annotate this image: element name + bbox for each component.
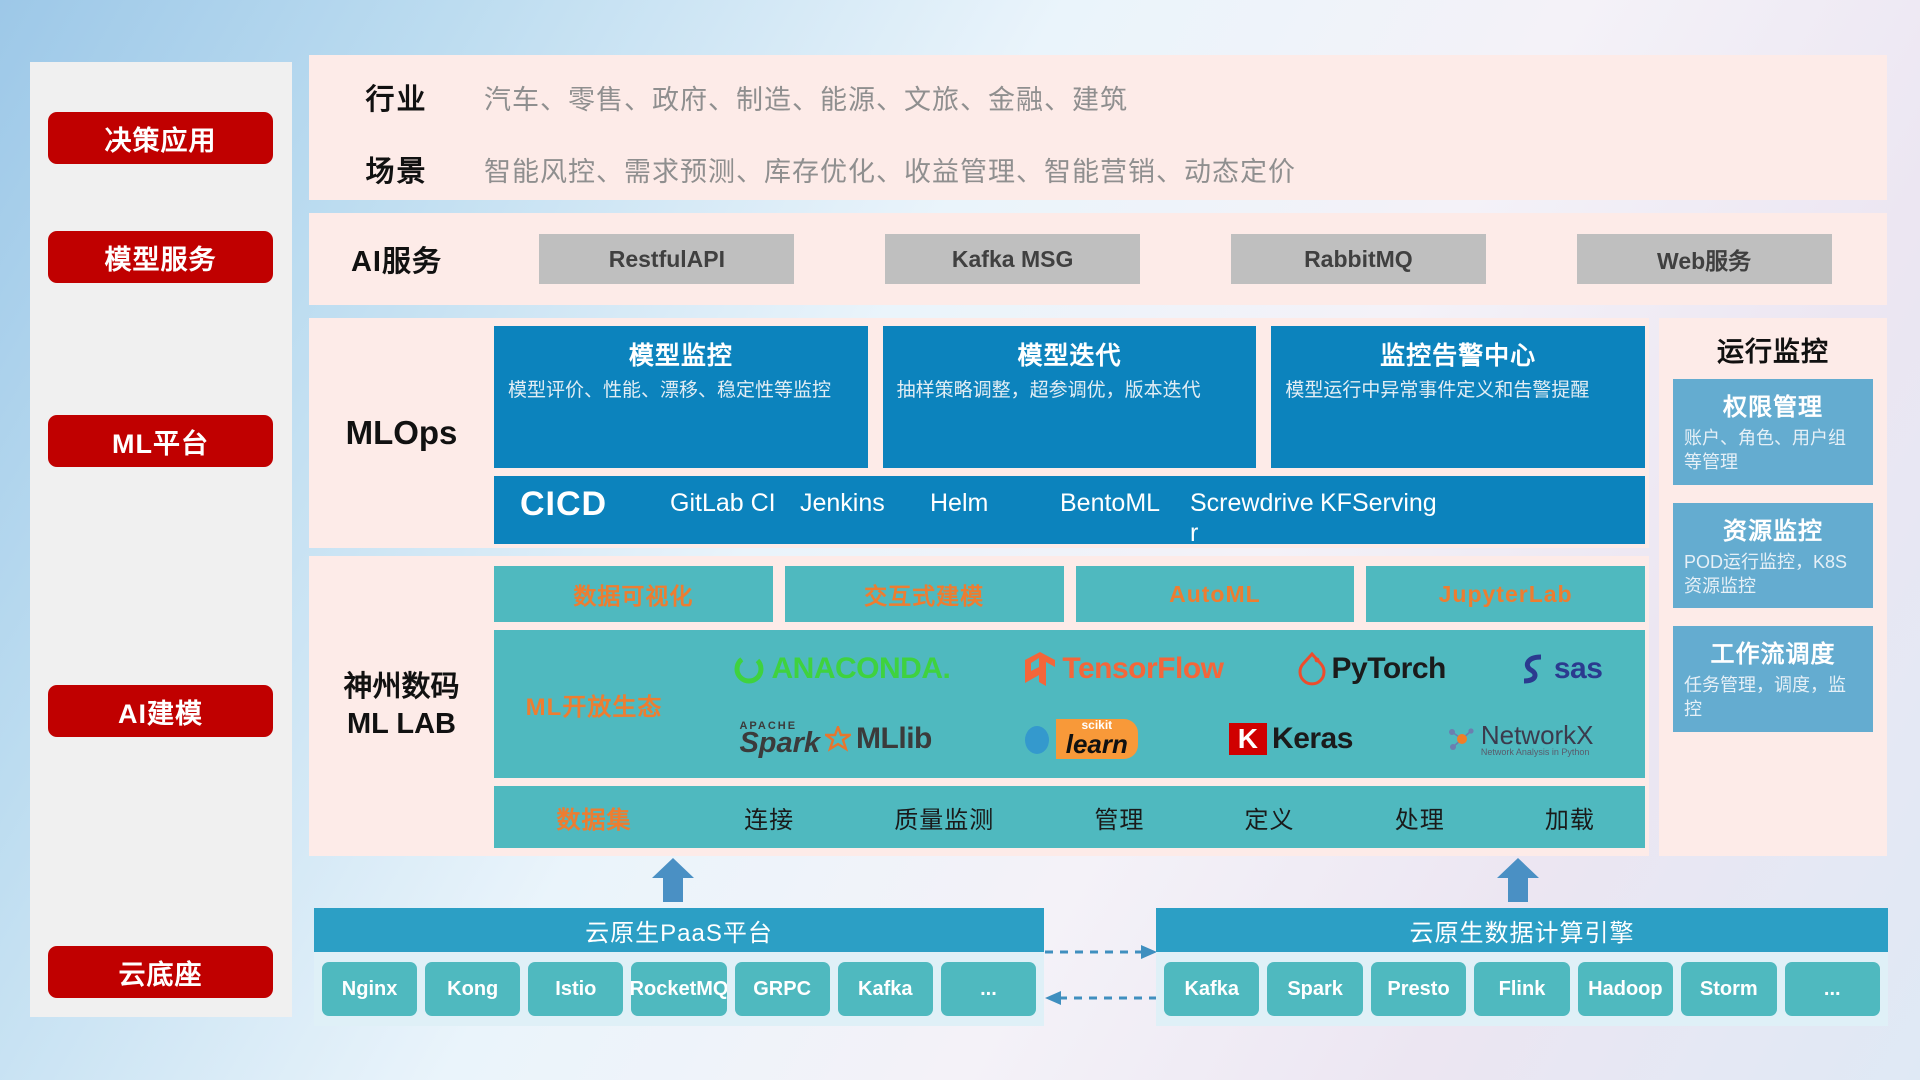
data-chip-kafka[interactable]: Kafka bbox=[1164, 962, 1259, 1016]
paas-chip-istio[interactable]: Istio bbox=[528, 962, 623, 1016]
card-desc: 模型评价、性能、漂移、稳定性等监控 bbox=[508, 378, 854, 404]
paas-title: 云原生PaaS平台 bbox=[314, 908, 1044, 952]
dataset-item-quality-monitoring[interactable]: 质量监测 bbox=[894, 800, 994, 835]
spark-mllib-logo: APACHE Spark MLlib bbox=[739, 722, 931, 756]
card-title: 工作流调度 bbox=[1684, 634, 1862, 669]
keras-logo: K Keras bbox=[1229, 722, 1353, 756]
decision-apps-panel: 行业 汽车、零售、政府、制造、能源、文旅、金融、建筑 场景 智能风控、需求预测、… bbox=[309, 55, 1887, 200]
ml-lab-label-line2: ML LAB bbox=[347, 706, 456, 743]
cicd-item-kfserving[interactable]: KFServing bbox=[1320, 476, 1450, 519]
up-arrow-icon-data-engine bbox=[1495, 858, 1541, 902]
cicd-item-screwdriver[interactable]: Screwdriver bbox=[1190, 476, 1320, 544]
data-chip-flink[interactable]: Flink bbox=[1474, 962, 1569, 1016]
ai-service-web-button[interactable]: Web服务 bbox=[1577, 234, 1832, 284]
scenario-label: 场景 bbox=[309, 148, 484, 190]
monitoring-card-workflow[interactable]: 工作流调度 任务管理，调度，监控 bbox=[1673, 626, 1873, 732]
runtime-monitoring-panel: 运行监控 权限管理 账户、角色、用户组等管理 资源监控 POD运行监控，K8S资… bbox=[1659, 318, 1887, 856]
learn-wordmark: learn bbox=[1066, 732, 1128, 757]
data-chip-spark[interactable]: Spark bbox=[1267, 962, 1362, 1016]
ml-lab-label-line1: 神州数码 bbox=[343, 669, 459, 706]
rail-item-label: ML平台 bbox=[112, 422, 209, 461]
anaconda-logo: ANACONDA. bbox=[731, 651, 951, 687]
scenario-row: 场景 智能风控、需求预测、库存优化、收益管理、智能营销、动态定价 bbox=[309, 133, 1887, 205]
cloud-native-data-engine-stack: 云原生数据计算引擎 Kafka Spark Presto Flink Hadoo… bbox=[1156, 908, 1888, 1026]
cloud-native-paas-stack: 云原生PaaS平台 Nginx Kong Istio RocketMQ GRPC… bbox=[314, 908, 1044, 1026]
mlops-panel: MLOps 模型监控 模型评价、性能、漂移、稳定性等监控 模型迭代 抽样策略调整… bbox=[309, 318, 1649, 548]
paas-chip-kong[interactable]: Kong bbox=[425, 962, 520, 1016]
rail-item-label: 决策应用 bbox=[105, 119, 217, 158]
left-rail: 决策应用 模型服务 ML平台 AI建模 云底座 bbox=[30, 62, 292, 1017]
ml-lab-panel: 神州数码 ML LAB 数据可视化 交互式建模 AutoML JupyterLa… bbox=[309, 556, 1649, 856]
dataset-item-load[interactable]: 加载 bbox=[1545, 800, 1595, 835]
ai-service-rabbitmq-button[interactable]: RabbitMQ bbox=[1231, 234, 1486, 284]
ai-service-panel: AI服务 RestfulAPI Kafka MSG RabbitMQ Web服务 bbox=[309, 213, 1887, 305]
data-engine-chips: Kafka Spark Presto Flink Hadoop Storm ..… bbox=[1156, 952, 1888, 1026]
mllib-wordmark: MLlib bbox=[856, 722, 932, 756]
card-desc: 抽样策略调整，超参调优，版本迭代 bbox=[897, 378, 1243, 404]
data-chip-more[interactable]: ... bbox=[1785, 962, 1880, 1016]
tab-interactive-modeling[interactable]: 交互式建模 bbox=[785, 566, 1064, 622]
sas-logo: sas bbox=[1519, 652, 1603, 686]
rail-item-model-service[interactable]: 模型服务 bbox=[48, 231, 273, 283]
card-title: 监控告警中心 bbox=[1285, 336, 1631, 372]
ml-lab-tabs: 数据可视化 交互式建模 AutoML JupyterLab bbox=[494, 566, 1645, 622]
cicd-item-jenkins[interactable]: Jenkins bbox=[800, 476, 930, 519]
cicd-title: CICD bbox=[520, 476, 670, 524]
dataset-bar: 数据集 连接 质量监测 管理 定义 处理 加载 bbox=[494, 786, 1645, 848]
scenario-value: 智能风控、需求预测、库存优化、收益管理、智能营销、动态定价 bbox=[484, 150, 1296, 189]
industry-value: 汽车、零售、政府、制造、能源、文旅、金融、建筑 bbox=[484, 78, 1128, 117]
spark-wordmark: Spark bbox=[739, 731, 820, 756]
ml-ecosystem-bar: ML开放生态 ANACONDA. TensorFlow PyTorch sas bbox=[494, 630, 1645, 778]
pytorch-logo: PyTorch bbox=[1297, 651, 1446, 687]
monitoring-card-resource[interactable]: 资源监控 POD运行监控，K8S资源监控 bbox=[1673, 503, 1873, 609]
tensorflow-wordmark: TensorFlow bbox=[1062, 652, 1223, 686]
anaconda-wordmark: ANACONDA. bbox=[772, 652, 951, 686]
mlops-cards: 模型监控 模型评价、性能、漂移、稳定性等监控 模型迭代 抽样策略调整，超参调优，… bbox=[494, 326, 1645, 468]
industry-row: 行业 汽车、零售、政府、制造、能源、文旅、金融、建筑 bbox=[309, 61, 1887, 133]
card-desc: 账户、角色、用户组等管理 bbox=[1684, 426, 1862, 475]
cicd-item-helm[interactable]: Helm bbox=[930, 476, 1060, 519]
up-arrow-icon-paas bbox=[650, 858, 696, 902]
ai-service-label: AI服务 bbox=[309, 238, 484, 280]
ai-service-restfulapi-button[interactable]: RestfulAPI bbox=[539, 234, 794, 284]
data-chip-hadoop[interactable]: Hadoop bbox=[1578, 962, 1673, 1016]
rail-item-ml-platform[interactable]: ML平台 bbox=[48, 415, 273, 467]
ai-service-items: RestfulAPI Kafka MSG RabbitMQ Web服务 bbox=[484, 234, 1887, 284]
tab-automl[interactable]: AutoML bbox=[1076, 566, 1355, 622]
rail-item-decision-apps[interactable]: 决策应用 bbox=[48, 112, 273, 164]
data-chip-storm[interactable]: Storm bbox=[1681, 962, 1776, 1016]
logo-row-1: ANACONDA. TensorFlow PyTorch sas bbox=[694, 634, 1639, 704]
mlops-card-model-monitoring[interactable]: 模型监控 模型评价、性能、漂移、稳定性等监控 bbox=[494, 326, 868, 468]
dataset-item-define[interactable]: 定义 bbox=[1245, 800, 1295, 835]
dataset-item-process[interactable]: 处理 bbox=[1395, 800, 1445, 835]
cicd-bar: CICD GitLab CI Jenkins Helm BentoML Scre… bbox=[494, 476, 1645, 544]
paas-chip-rocketmq[interactable]: RocketMQ bbox=[631, 962, 726, 1016]
monitoring-card-permission[interactable]: 权限管理 账户、角色、用户组等管理 bbox=[1673, 379, 1873, 485]
networkx-logo: NetworkX Network Analysis in Python bbox=[1444, 722, 1594, 757]
industry-label: 行业 bbox=[309, 76, 484, 118]
card-title: 资源监控 bbox=[1684, 511, 1862, 546]
paas-chip-more[interactable]: ... bbox=[941, 962, 1036, 1016]
rail-item-label: AI建模 bbox=[118, 692, 203, 731]
sas-wordmark: sas bbox=[1554, 652, 1603, 686]
ml-ecosystem-logos: ANACONDA. TensorFlow PyTorch sas bbox=[694, 634, 1645, 774]
card-desc: 任务管理，调度，监控 bbox=[1684, 673, 1862, 722]
pytorch-wordmark: PyTorch bbox=[1332, 652, 1446, 686]
data-chip-presto[interactable]: Presto bbox=[1371, 962, 1466, 1016]
paas-chip-nginx[interactable]: Nginx bbox=[322, 962, 417, 1016]
mlops-card-model-iteration[interactable]: 模型迭代 抽样策略调整，超参调优，版本迭代 bbox=[883, 326, 1257, 468]
rail-item-label: 模型服务 bbox=[105, 238, 217, 277]
paas-chip-grpc[interactable]: GRPC bbox=[735, 962, 830, 1016]
networkx-wordmark: NetworkX bbox=[1481, 722, 1594, 748]
ai-service-kafka-msg-button[interactable]: Kafka MSG bbox=[885, 234, 1140, 284]
dataset-items: 连接 质量监测 管理 定义 处理 加载 bbox=[694, 800, 1645, 835]
dataset-item-manage[interactable]: 管理 bbox=[1094, 800, 1144, 835]
dataset-label: 数据集 bbox=[494, 800, 694, 835]
tensorflow-logo: TensorFlow bbox=[1023, 650, 1223, 688]
keras-wordmark: Keras bbox=[1272, 722, 1353, 756]
tab-jupyterlab[interactable]: JupyterLab bbox=[1366, 566, 1645, 622]
logo-row-2: APACHE Spark MLlib scikit learn K Keras bbox=[694, 704, 1639, 774]
card-title: 模型监控 bbox=[508, 336, 854, 372]
runtime-monitoring-title: 运行监控 bbox=[1659, 318, 1887, 379]
card-title: 模型迭代 bbox=[897, 336, 1243, 372]
scikit-learn-logo: scikit learn bbox=[1023, 719, 1138, 758]
rail-item-ai-modeling[interactable]: AI建模 bbox=[48, 685, 273, 737]
networkx-subtitle: Network Analysis in Python bbox=[1481, 748, 1590, 757]
paas-chips: Nginx Kong Istio RocketMQ GRPC Kafka ... bbox=[314, 952, 1044, 1026]
card-desc: POD运行监控，K8S资源监控 bbox=[1684, 550, 1862, 599]
mlops-label: MLOps bbox=[309, 318, 494, 548]
cicd-item-gitlab-ci[interactable]: GitLab CI bbox=[670, 476, 800, 519]
bidirectional-link-arrows-icon bbox=[1045, 940, 1157, 1020]
paas-chip-kafka[interactable]: Kafka bbox=[838, 962, 933, 1016]
data-engine-title: 云原生数据计算引擎 bbox=[1156, 908, 1888, 952]
card-title: 权限管理 bbox=[1684, 387, 1862, 422]
dataset-item-connect[interactable]: 连接 bbox=[744, 800, 794, 835]
cicd-item-bentoml[interactable]: BentoML bbox=[1060, 476, 1190, 519]
card-desc: 模型运行中异常事件定义和告警提醒 bbox=[1285, 378, 1631, 404]
rail-item-cloud-base[interactable]: 云底座 bbox=[48, 946, 273, 998]
ml-ecosystem-label: ML开放生态 bbox=[494, 687, 694, 722]
rail-item-label: 云底座 bbox=[119, 953, 203, 992]
mlops-card-alert-center[interactable]: 监控告警中心 模型运行中异常事件定义和告警提醒 bbox=[1271, 326, 1645, 468]
ml-lab-label: 神州数码 ML LAB bbox=[309, 556, 494, 856]
tab-data-visualization[interactable]: 数据可视化 bbox=[494, 566, 773, 622]
